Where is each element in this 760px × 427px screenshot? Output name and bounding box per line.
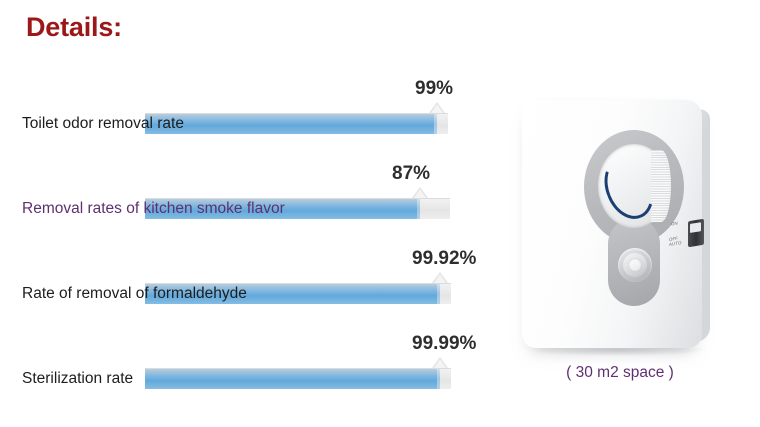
indicator-ring <box>623 253 647 277</box>
performance-bar-chart: 99% Toilet odor removal rate 87% Removal… <box>0 62 500 402</box>
bar-fill <box>145 114 437 134</box>
bar-category-label: Rate of removal of formaldehyde <box>22 285 247 303</box>
power-indicator-icon[interactable] <box>618 248 652 282</box>
switch-lever <box>690 222 701 233</box>
details-panel: Details: 99% Toilet odor removal rate 87… <box>0 0 760 427</box>
bar-category-label: Sterilization rate <box>22 370 133 388</box>
bar-value-pointer <box>432 357 448 368</box>
bar-track <box>145 368 451 389</box>
bar-value-pointer <box>432 272 448 283</box>
bar-value-label: 99% <box>415 78 453 100</box>
chart-row: 99.92% Rate of removal of formaldehyde <box>0 232 500 317</box>
indicator-core <box>628 258 642 272</box>
bar-value-label: 99.99% <box>412 333 476 355</box>
chart-row: 99% Toilet odor removal rate <box>0 62 500 147</box>
bar-track <box>145 113 448 134</box>
bar-category-label: Removal rates of kitchen smoke flavor <box>22 200 285 218</box>
dial-ridges <box>651 150 671 222</box>
bar-value-label: 87% <box>392 163 430 185</box>
switch-label-off: OFFAUTO <box>669 235 682 247</box>
product-photo: ON OFFAUTO ( 30 m2 space ) <box>480 92 760 392</box>
bar-fill-cap <box>437 369 440 389</box>
chart-row: 87% Removal rates of kitchen smoke flavo… <box>0 147 500 232</box>
bar-fill-cap <box>437 284 440 304</box>
bar-value-pointer <box>412 187 428 198</box>
bar-fill <box>145 369 440 389</box>
page-title: Details: <box>26 12 122 43</box>
bar-fill-cap <box>434 114 437 134</box>
rotary-dial-icon[interactable] <box>598 144 670 228</box>
chart-row: 99.99% Sterilization rate <box>0 317 500 402</box>
bar-fill-cap <box>417 199 420 219</box>
bar-category-label: Toilet odor removal rate <box>22 115 184 133</box>
bar-value-label: 99.92% <box>412 248 476 270</box>
mode-switch-icon[interactable] <box>688 219 704 248</box>
switch-label-on: ON <box>671 220 678 226</box>
bar-value-pointer <box>429 102 445 113</box>
product-caption: ( 30 m2 space ) <box>480 364 760 382</box>
